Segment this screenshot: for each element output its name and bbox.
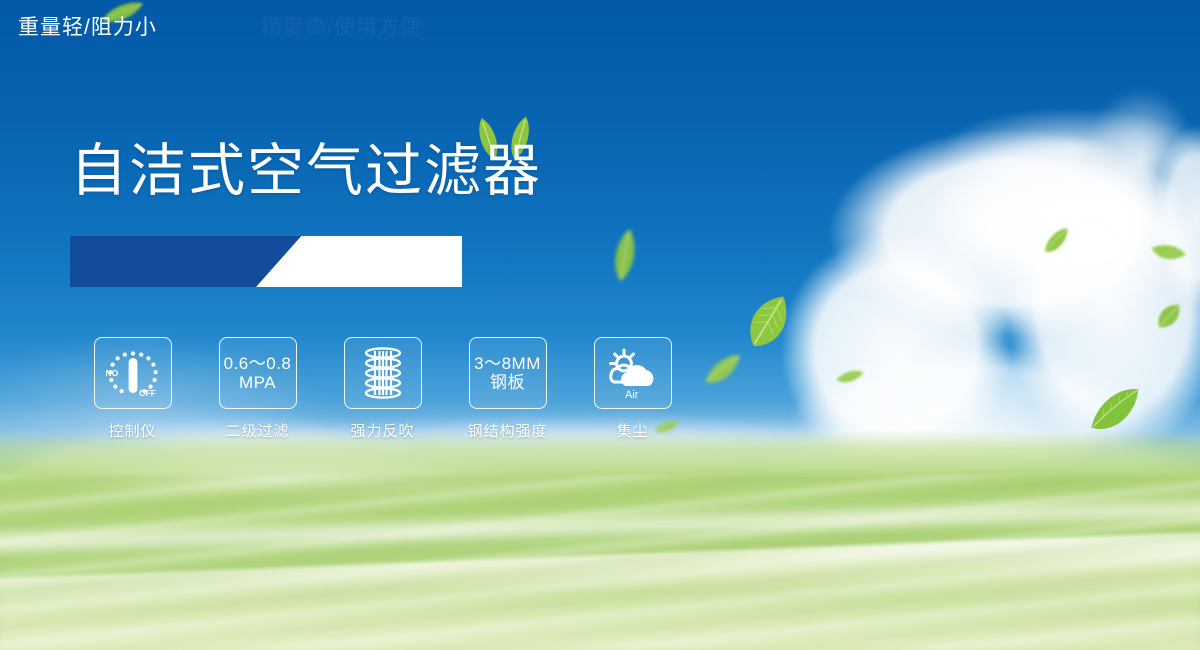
feature-label: 钢结构强度 xyxy=(467,420,547,441)
dial-off-label: OFF xyxy=(139,388,156,398)
tagline-left-text: 重量轻/阻力小 xyxy=(18,0,157,51)
tagline-right-text: 精度高/使用方便 xyxy=(261,0,422,51)
pressure-unit: MPA xyxy=(224,373,292,392)
feature-label: 强力反吹 xyxy=(350,420,414,441)
cloud-air-icon: Air xyxy=(594,337,672,409)
pressure-text-icon: 0.6～0.8 MPA xyxy=(219,337,297,409)
feature-item-steel-strength[interactable]: 3～8MM 钢板 钢结构强度 xyxy=(445,337,570,441)
page-title: 自洁式空气过滤器 xyxy=(70,143,542,200)
dial-no-label: NO xyxy=(105,368,118,378)
feature-item-dust-collection[interactable]: Air 集尘 xyxy=(570,337,695,441)
control-dial-icon: NO OFF xyxy=(94,337,172,409)
air-label: Air xyxy=(625,389,639,401)
feature-item-reverse-blow[interactable]: 强力反吹 xyxy=(320,337,445,441)
feature-item-control-dial[interactable]: NO OFF 控制仪 xyxy=(70,337,195,441)
steel-plate-label: 钢板 xyxy=(474,373,541,392)
feature-icon-row: NO OFF 控制仪 0.6～0.8 MPA 二级过滤 xyxy=(70,337,695,441)
feature-label: 控制仪 xyxy=(108,420,156,441)
steel-plate-text-icon: 3～8MM 钢板 xyxy=(469,337,547,409)
feature-label: 二级过滤 xyxy=(225,420,289,441)
feature-label: 集尘 xyxy=(616,420,648,441)
filter-coil-icon xyxy=(344,337,422,409)
feature-item-secondary-filter[interactable]: 0.6～0.8 MPA 二级过滤 xyxy=(195,337,320,441)
steel-thickness: 3～8MM xyxy=(474,354,541,373)
pressure-value: 0.6～0.8 xyxy=(224,354,292,373)
tagline-bar xyxy=(70,236,462,287)
product-banner: 自洁式空气过滤器 重量轻/阻力小 精度高/使用方便 xyxy=(0,0,1200,650)
